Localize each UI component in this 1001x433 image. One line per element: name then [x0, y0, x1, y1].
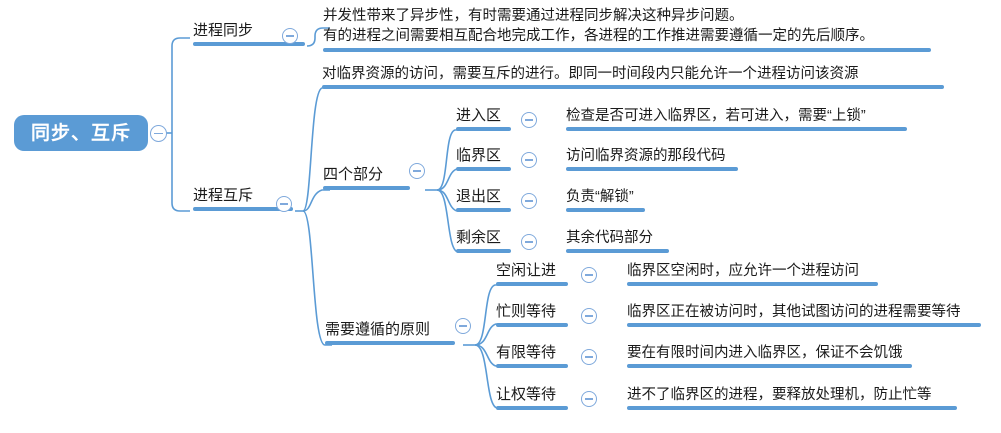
- node-mutex-definition[interactable]: 对临界资源的访问，需要互斥的进行。即同一时间段内只能允许一个进程访问该资源: [322, 65, 944, 89]
- root-node-label: 同步、互斥: [31, 124, 131, 143]
- leaf-bounded-wait-label: 有限等待: [496, 344, 568, 362]
- desc-remainder-section[interactable]: 其余代码部分: [566, 229, 669, 253]
- desc-yield-when-wait-label: 进不了临界区的进程，要释放处理机，防止忙等: [627, 386, 957, 404]
- note-process-sync-underline: [323, 48, 931, 52]
- leaf-entry-section-underline: [456, 127, 511, 131]
- leaf-remainder-section-label: 剩余区: [456, 229, 511, 247]
- leaf-entry-section[interactable]: 进入区: [456, 107, 511, 131]
- leaf-bounded-wait-underline: [496, 364, 568, 368]
- leaf-bounded-wait[interactable]: 有限等待: [496, 344, 568, 368]
- node-mutex-definition-underline: [322, 85, 944, 89]
- leaf-exit-section-label: 退出区: [456, 188, 511, 206]
- leaf-critical-section-label: 临界区: [456, 147, 511, 165]
- leaf-free-to-enter[interactable]: 空闲让进: [496, 262, 568, 286]
- desc-bounded-wait-label: 要在有限时间内进入临界区，保证不会饥饿: [627, 344, 912, 362]
- note-process-sync-line2: 有的进程之间需要相互配合地完成工作，各进程的工作推进需要遵循一定的先后顺序。: [323, 26, 931, 46]
- leaf-entry-section-collapse-minus-icon[interactable]: [521, 112, 537, 128]
- leaf-free-to-enter-collapse-minus-icon[interactable]: [581, 267, 597, 283]
- desc-bounded-wait-underline: [627, 364, 912, 368]
- leaf-critical-section-underline: [456, 167, 511, 171]
- leaf-yield-when-wait-underline: [496, 406, 568, 410]
- leaf-busy-wait[interactable]: 忙则等待: [496, 303, 568, 327]
- node-four-sections-underline: [323, 186, 410, 190]
- root-node[interactable]: 同步、互斥: [14, 115, 148, 151]
- desc-entry-section-underline: [566, 127, 907, 131]
- desc-entry-section[interactable]: 检查是否可进入临界区，若可进入，需要“上锁”: [566, 107, 907, 131]
- branch-process-sync-collapse-minus-icon[interactable]: [282, 28, 298, 44]
- node-principles-collapse-minus-icon[interactable]: [455, 318, 471, 334]
- desc-busy-wait-underline: [627, 323, 981, 327]
- leaf-free-to-enter-label: 空闲让进: [496, 262, 568, 280]
- desc-remainder-section-label: 其余代码部分: [566, 229, 669, 247]
- desc-yield-when-wait-underline: [627, 406, 957, 410]
- desc-critical-section-underline: [566, 167, 738, 171]
- desc-exit-section[interactable]: 负责“解锁”: [566, 188, 645, 212]
- desc-bounded-wait[interactable]: 要在有限时间内进入临界区，保证不会饥饿: [627, 344, 912, 368]
- leaf-remainder-section[interactable]: 剩余区: [456, 229, 511, 253]
- node-four-sections-collapse-minus-icon[interactable]: [409, 163, 425, 179]
- leaf-exit-section-collapse-minus-icon[interactable]: [521, 193, 537, 209]
- root-collapse-minus-icon[interactable]: [150, 125, 167, 142]
- desc-entry-section-label: 检查是否可进入临界区，若可进入，需要“上锁”: [566, 107, 907, 125]
- leaf-remainder-section-underline: [456, 249, 511, 253]
- leaf-yield-when-wait-label: 让权等待: [496, 386, 568, 404]
- desc-free-to-enter-underline: [627, 282, 878, 286]
- leaf-busy-wait-collapse-minus-icon[interactable]: [581, 308, 597, 324]
- leaf-exit-section[interactable]: 退出区: [456, 188, 511, 212]
- desc-free-to-enter[interactable]: 临界区空闲时，应允许一个进程访问: [627, 262, 878, 286]
- leaf-exit-section-underline: [456, 208, 511, 212]
- leaf-yield-when-wait-collapse-minus-icon[interactable]: [581, 391, 597, 407]
- note-process-sync[interactable]: 并发性带来了异步性，有时需要通过进程同步解决这种异步问题。 有的进程之间需要相互…: [323, 6, 931, 52]
- leaf-free-to-enter-underline: [496, 282, 568, 286]
- leaf-critical-section[interactable]: 临界区: [456, 147, 511, 171]
- node-four-sections-label: 四个部分: [323, 166, 410, 184]
- mindmap-canvas: 同步、互斥 进程同步 并发性带来了异步性，有时需要通过进程同步解决这种异步问题。…: [0, 0, 1001, 433]
- desc-busy-wait-label: 临界区正在被访问时，其他试图访问的进程需要等待: [627, 303, 981, 321]
- desc-exit-section-underline: [566, 208, 645, 212]
- node-four-sections[interactable]: 四个部分: [323, 166, 410, 190]
- node-principles[interactable]: 需要遵循的原则: [325, 321, 455, 345]
- leaf-busy-wait-label: 忙则等待: [496, 303, 568, 321]
- leaf-critical-section-collapse-minus-icon[interactable]: [521, 152, 537, 168]
- node-principles-label: 需要遵循的原则: [325, 321, 455, 339]
- leaf-remainder-section-collapse-minus-icon[interactable]: [521, 234, 537, 250]
- leaf-entry-section-label: 进入区: [456, 107, 511, 125]
- node-principles-underline: [325, 341, 455, 345]
- leaf-busy-wait-underline: [496, 323, 568, 327]
- note-process-sync-line1: 并发性带来了异步性，有时需要通过进程同步解决这种异步问题。: [323, 6, 931, 26]
- desc-yield-when-wait[interactable]: 进不了临界区的进程，要释放处理机，防止忙等: [627, 386, 957, 410]
- leaf-bounded-wait-collapse-minus-icon[interactable]: [581, 349, 597, 365]
- leaf-yield-when-wait[interactable]: 让权等待: [496, 386, 568, 410]
- desc-remainder-section-underline: [566, 249, 669, 253]
- desc-critical-section[interactable]: 访问临界资源的那段代码: [566, 147, 738, 171]
- desc-exit-section-label: 负责“解锁”: [566, 188, 645, 206]
- desc-free-to-enter-label: 临界区空闲时，应允许一个进程访问: [627, 262, 878, 280]
- branch-process-mutex-collapse-minus-icon[interactable]: [276, 196, 292, 212]
- desc-critical-section-label: 访问临界资源的那段代码: [566, 147, 738, 165]
- node-mutex-definition-label: 对临界资源的访问，需要互斥的进行。即同一时间段内只能允许一个进程访问该资源: [322, 65, 944, 83]
- desc-busy-wait[interactable]: 临界区正在被访问时，其他试图访问的进程需要等待: [627, 303, 981, 327]
